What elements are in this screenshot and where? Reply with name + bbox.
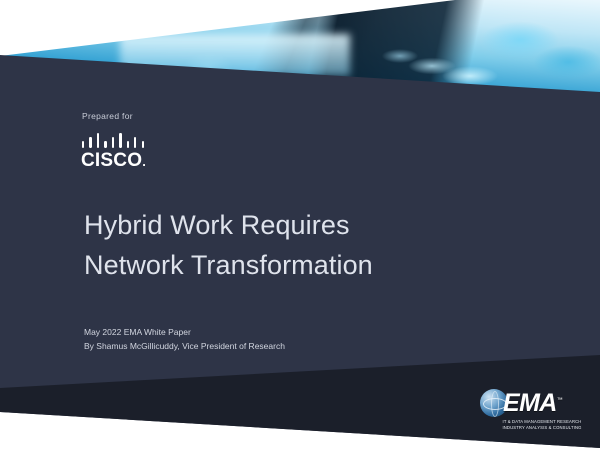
ema-trademark-symbol: ™	[557, 397, 562, 403]
byline: May 2022 EMA White Paper By Shamus McGil…	[84, 326, 285, 354]
page-title: Hybrid Work Requires Network Transformat…	[84, 206, 504, 286]
byline-publication: May 2022 EMA White Paper	[84, 326, 285, 340]
page-title-line-1: Hybrid Work Requires	[84, 206, 504, 246]
cisco-trademark-dot: .	[142, 154, 146, 169]
cisco-bridge-logo-icon	[82, 133, 144, 148]
ema-logo: EMA™ IT & DATA MANAGEMENT RESEARCH INDUS…	[480, 388, 584, 434]
ema-logo-row: EMA™	[480, 388, 584, 418]
ema-tagline: IT & DATA MANAGEMENT RESEARCH INDUSTRY A…	[502, 419, 582, 431]
byline-author: By Shamus McGillicuddy, Vice President o…	[84, 340, 285, 354]
ema-wordmark-text: EMA	[503, 389, 557, 417]
cover-content: Prepared for CISCO. Hybrid Work Requires…	[0, 0, 600, 463]
page-title-line-2: Network Transformation	[84, 246, 504, 286]
prepared-for-label: Prepared for	[82, 111, 133, 121]
cisco-wordmark: CISCO.	[81, 151, 155, 170]
ema-tagline-line-2: INDUSTRY ANALYSIS & CONSULTING	[502, 425, 582, 431]
white-paper-cover-page: Prepared for CISCO. Hybrid Work Requires…	[0, 0, 600, 463]
cisco-logo: CISCO.	[81, 133, 155, 170]
ema-wordmark: EMA™	[503, 391, 562, 416]
cisco-wordmark-text: CISCO	[81, 150, 142, 171]
